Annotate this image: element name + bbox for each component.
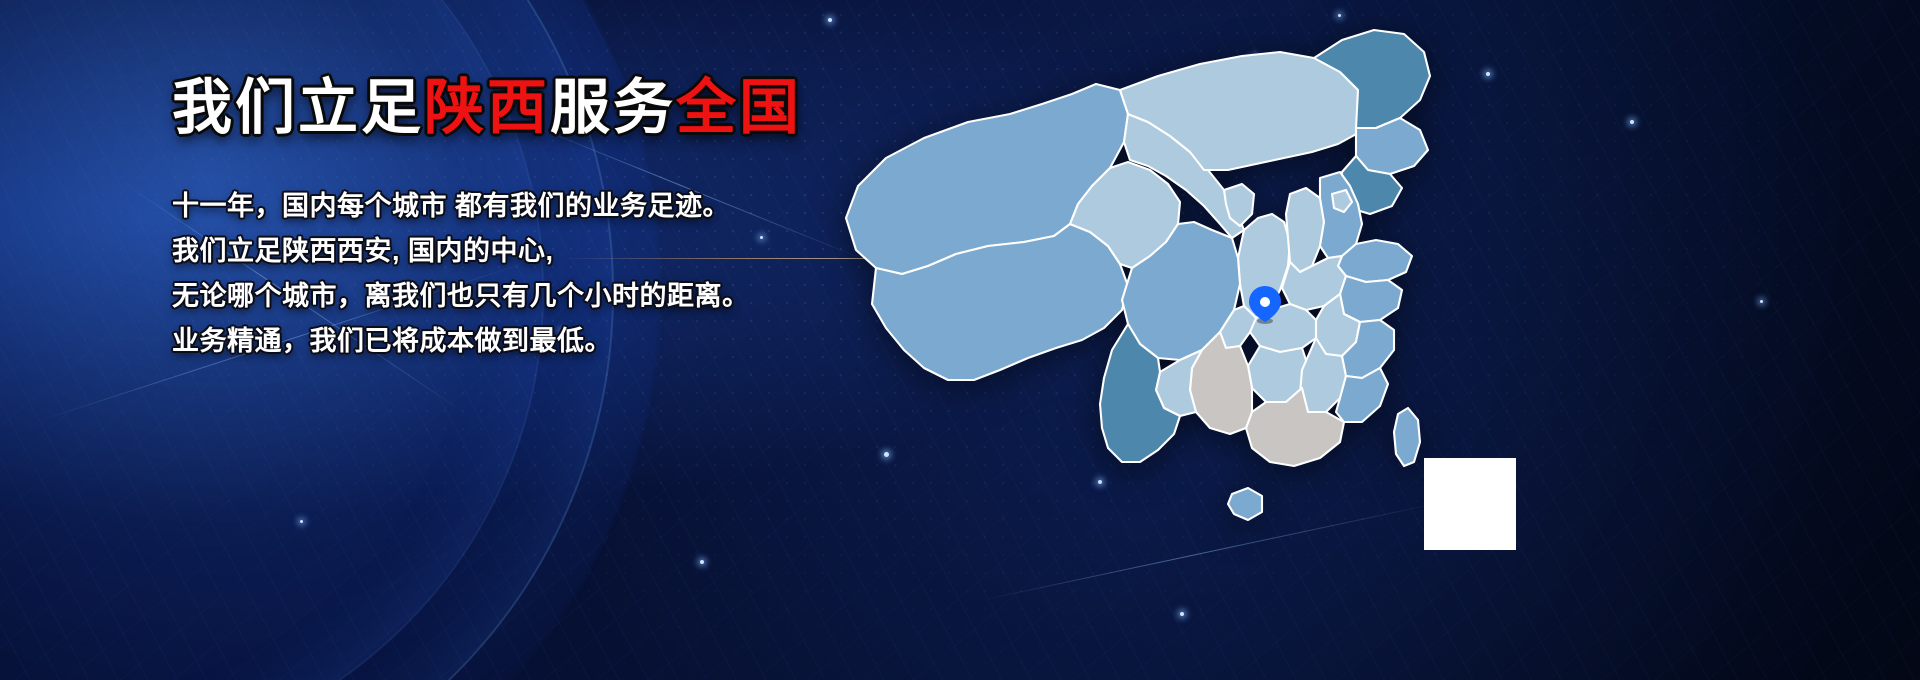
body-line-1: 十一年，国内每个城市 都有我们的业务足迹。	[172, 184, 872, 229]
body-line-4: 业务精通，我们已将成本做到最低。	[172, 319, 872, 364]
star-dot	[700, 560, 704, 564]
china-map	[828, 18, 1508, 563]
promo-banner: 我们立足陕西服务全国 十一年，国内每个城市 都有我们的业务足迹。 我们立足陕西西…	[0, 0, 1920, 680]
star-dot	[1180, 612, 1184, 616]
body-line-2: 我们立足陕西西安, 国内的中心,	[172, 229, 872, 274]
copy-block: 我们立足陕西服务全国 十一年，国内每个城市 都有我们的业务足迹。 我们立足陕西西…	[172, 78, 872, 364]
headline-part-4-accent: 全国	[676, 74, 802, 141]
body-line-3: 无论哪个城市，离我们也只有几个小时的距离。	[172, 274, 872, 319]
map-region-shanxi	[1286, 188, 1324, 272]
map-region-hainan	[1228, 488, 1262, 520]
star-dot	[1630, 120, 1634, 124]
body-copy: 十一年，国内每个城市 都有我们的业务足迹。 我们立足陕西西安, 国内的中心, 无…	[172, 184, 872, 364]
star-dot	[1338, 14, 1341, 17]
headline-part-2-accent: 陕西	[424, 74, 550, 141]
page-title: 我们立足陕西服务全国	[172, 78, 872, 138]
headline-part-3: 服务	[550, 74, 676, 141]
star-dot	[300, 520, 303, 523]
qr-code-matrix	[1428, 462, 1512, 546]
map-region-jiangsu	[1340, 276, 1402, 322]
headline-part-1: 我们立足	[172, 74, 424, 141]
map-region-taiwan	[1394, 408, 1420, 466]
qr-code[interactable]	[1424, 458, 1516, 550]
star-dot	[1760, 300, 1763, 303]
